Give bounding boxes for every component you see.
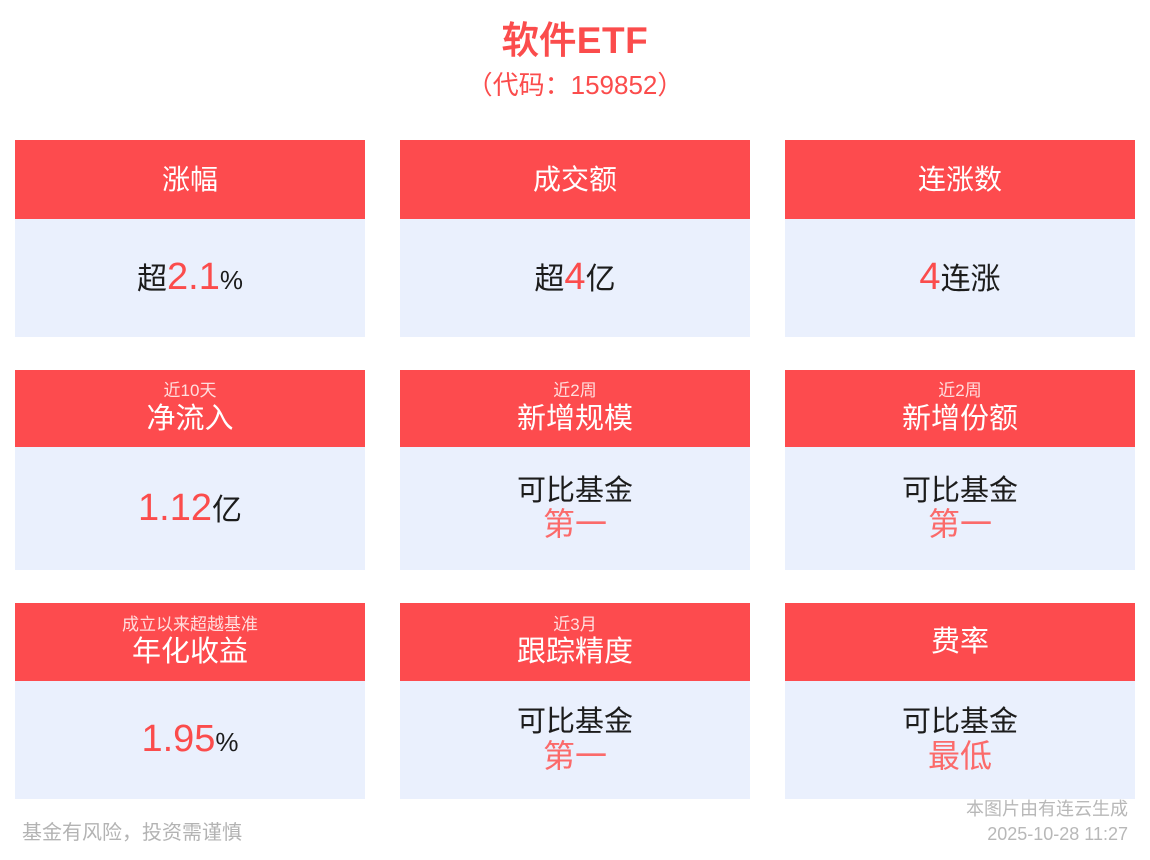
metric-value-line: 可比基金 最低 [902, 705, 1018, 775]
metric-value-line: 4 连涨 [919, 257, 1000, 299]
card-header: 成立以来超越基准 年化收益 [15, 603, 365, 681]
value-peer-group: 可比基金 [902, 474, 1018, 509]
card-header: 涨幅 [15, 140, 365, 219]
value-unit: % [220, 266, 243, 295]
metric-card-annualized-return: 成立以来超越基准 年化收益 1.95 % [15, 603, 365, 799]
card-subtitle: 近3月 [553, 615, 596, 635]
card-title: 涨幅 [162, 163, 218, 196]
value-rank: 第一 [517, 506, 633, 543]
page-title: 软件ETF [0, 18, 1150, 63]
card-body: 1.12 亿 [15, 447, 365, 570]
value-number: 1.12 [138, 488, 212, 530]
value-unit: 亿 [586, 263, 616, 296]
card-title: 净流入 [146, 402, 233, 436]
value-rank: 最低 [902, 738, 1018, 775]
credit-source: 本图片由有连云生成 [966, 797, 1128, 821]
poster-footer: 基金有风险，投资需谨慎 本图片由有连云生成 2025-10-28 11:27 [0, 790, 1150, 860]
metric-value-line: 1.95 % [141, 719, 238, 761]
card-title: 新增份额 [902, 402, 1018, 436]
card-title: 费率 [931, 625, 989, 659]
metric-value-line: 可比基金 第一 [902, 474, 1018, 544]
card-subtitle: 成立以来超越基准 [122, 615, 258, 635]
metric-card-tracking-accuracy: 近3月 跟踪精度 可比基金 第一 [400, 603, 750, 799]
card-body: 超 2.1 % [15, 219, 365, 337]
card-title: 成交额 [533, 163, 617, 196]
card-header: 费率 [785, 603, 1135, 681]
value-peer-group: 可比基金 [902, 705, 1018, 740]
value-rank: 第一 [517, 738, 633, 775]
card-title: 新增规模 [517, 402, 633, 436]
value-unit: 亿 [212, 494, 242, 527]
card-title: 连涨数 [918, 163, 1002, 196]
poster-header: 软件ETF （代码：159852） [0, 0, 1150, 102]
metric-card-turnover: 成交额 超 4 亿 [400, 140, 750, 337]
value-unit: 连涨 [941, 263, 1001, 296]
value-unit: % [215, 728, 238, 757]
card-title: 跟踪精度 [517, 635, 633, 669]
metric-card-new-scale: 近2周 新增规模 可比基金 第一 [400, 370, 750, 570]
card-subtitle: 近10天 [164, 381, 217, 401]
etf-summary-poster: 软件ETF （代码：159852） 涨幅 超 2.1 % 成交额 超 [0, 0, 1150, 860]
card-body: 超 4 亿 [400, 219, 750, 337]
card-header: 近2周 新增规模 [400, 370, 750, 447]
card-header: 近10天 净流入 [15, 370, 365, 447]
metric-value-line: 超 2.1 % [137, 257, 243, 299]
metric-value-line: 可比基金 第一 [517, 705, 633, 775]
card-body: 可比基金 第一 [400, 447, 750, 570]
card-header: 近3月 跟踪精度 [400, 603, 750, 681]
metric-card-streak: 连涨数 4 连涨 [785, 140, 1135, 337]
card-body: 可比基金 最低 [785, 681, 1135, 799]
metric-card-net-inflow: 近10天 净流入 1.12 亿 [15, 370, 365, 570]
card-body: 可比基金 第一 [785, 447, 1135, 570]
metric-card-new-shares: 近2周 新增份额 可比基金 第一 [785, 370, 1135, 570]
metric-card-change: 涨幅 超 2.1 % [15, 140, 365, 337]
value-number: 4 [564, 257, 585, 299]
card-body: 1.95 % [15, 681, 365, 799]
card-header: 连涨数 [785, 140, 1135, 219]
card-title: 年化收益 [132, 635, 248, 669]
card-body: 4 连涨 [785, 219, 1135, 337]
risk-disclaimer: 基金有风险，投资需谨慎 [22, 820, 242, 846]
card-subtitle: 近2周 [553, 381, 596, 401]
value-number: 1.95 [141, 719, 215, 761]
card-header: 成交额 [400, 140, 750, 219]
metric-value-line: 超 4 亿 [534, 257, 615, 299]
card-body: 可比基金 第一 [400, 681, 750, 799]
card-subtitle: 近2周 [938, 381, 981, 401]
value-peer-group: 可比基金 [517, 474, 633, 509]
value-number: 4 [919, 257, 940, 299]
card-header: 近2周 新增份额 [785, 370, 1135, 447]
value-prefix: 超 [534, 263, 564, 296]
metric-card-grid: 涨幅 超 2.1 % 成交额 超 4 亿 [15, 140, 1135, 799]
value-peer-group: 可比基金 [517, 705, 633, 740]
fund-code: （代码：159852） [0, 69, 1150, 102]
credit-timestamp: 2025-10-28 11:27 [966, 822, 1128, 846]
value-number: 2.1 [167, 257, 220, 299]
value-rank: 第一 [902, 506, 1018, 543]
metric-card-fee-rate: 费率 可比基金 最低 [785, 603, 1135, 799]
value-prefix: 超 [137, 263, 167, 296]
metric-value-line: 1.12 亿 [138, 488, 242, 530]
generation-credit: 本图片由有连云生成 2025-10-28 11:27 [966, 797, 1128, 846]
metric-value-line: 可比基金 第一 [517, 474, 633, 544]
